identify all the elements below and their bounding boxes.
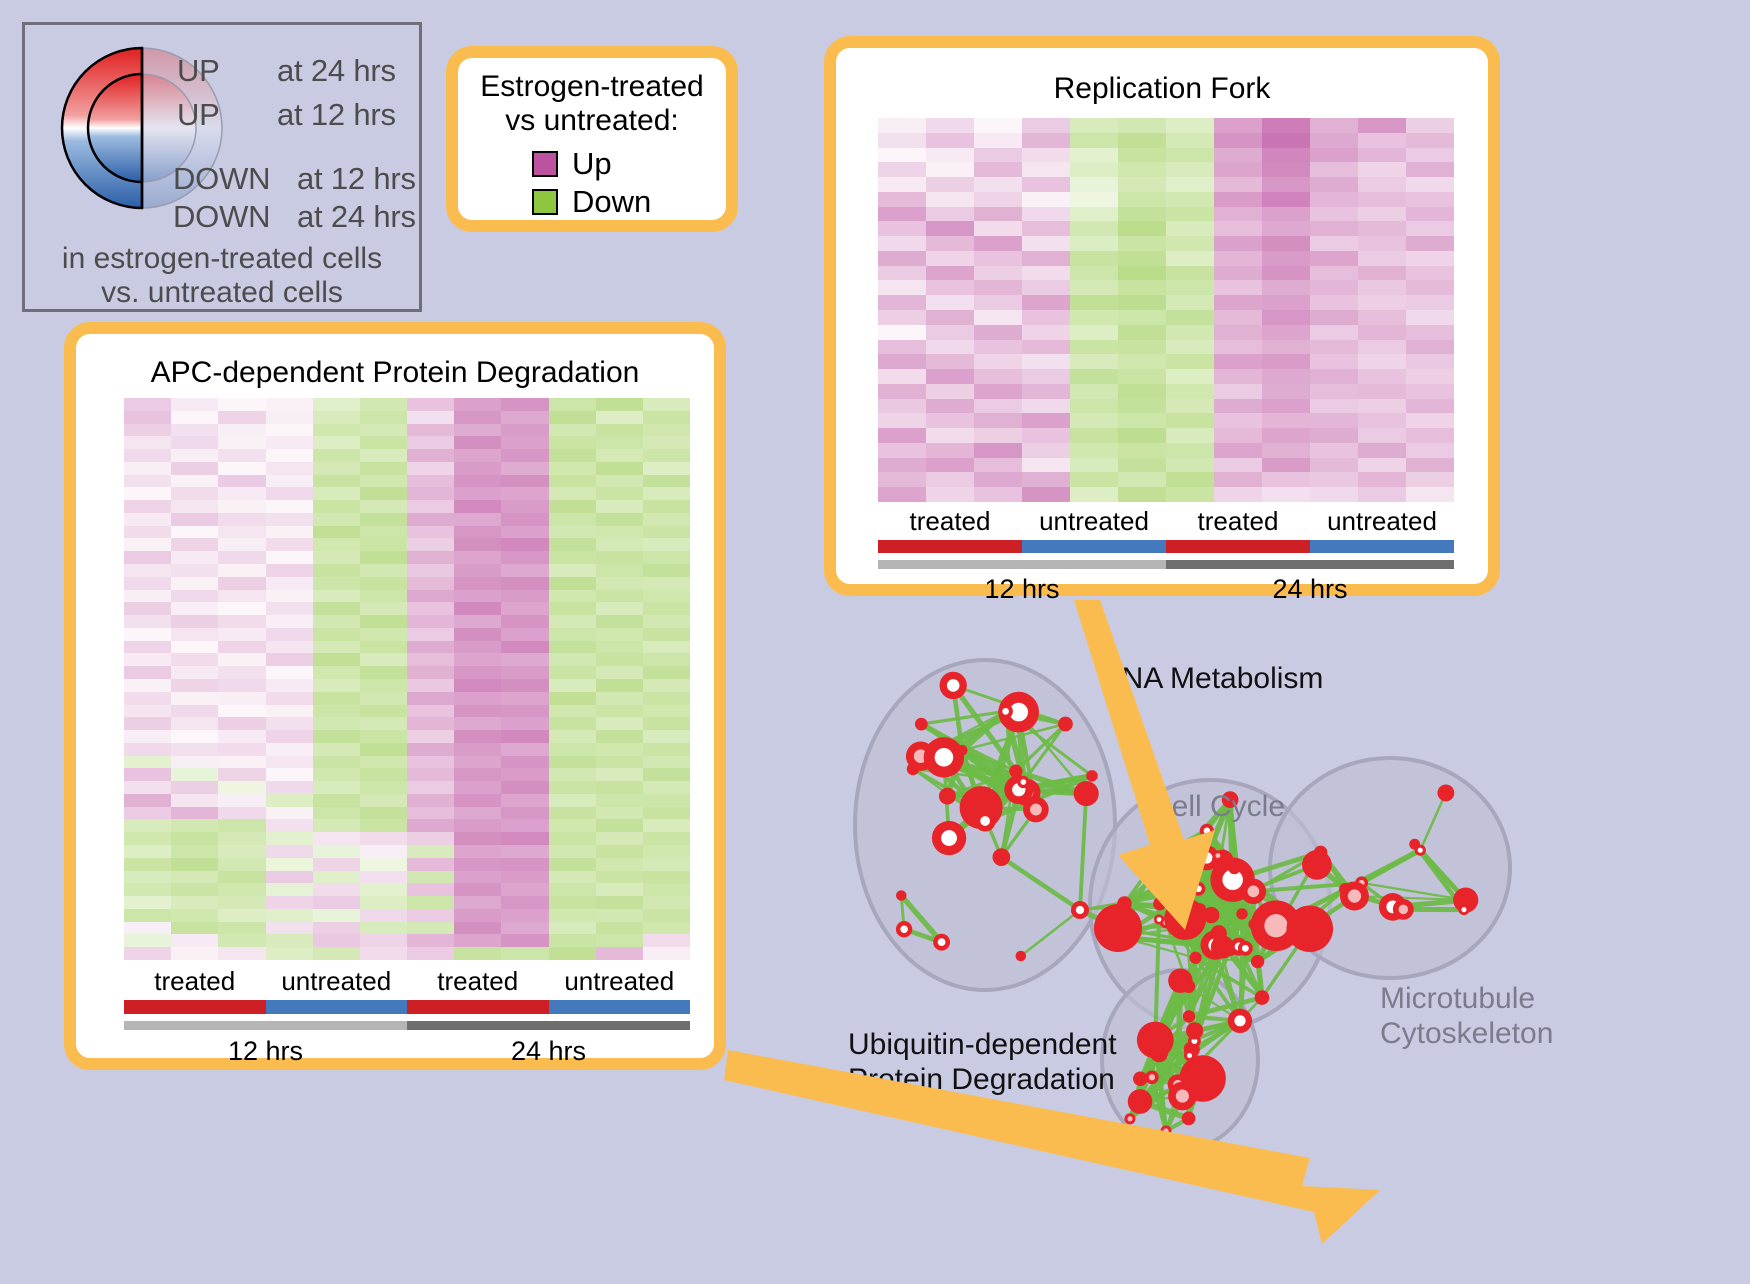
network-node [1009, 765, 1022, 778]
network-node [1164, 898, 1206, 940]
network-node [1023, 797, 1049, 823]
network-node [915, 718, 928, 731]
network-node [933, 934, 950, 951]
time-labels-apc: 12 hrs 24 hrs [124, 1036, 690, 1067]
network-node [1184, 1050, 1195, 1061]
legend-state-0: UP [177, 53, 220, 89]
network-node [1175, 870, 1189, 884]
pathway-network-graph: DNA Metabolism Cell Cycle Microtubule Cy… [780, 610, 1750, 1279]
network-node [1086, 770, 1098, 782]
network-node [1145, 1070, 1159, 1084]
group-label-0: treated [878, 506, 1022, 537]
network-node [1058, 717, 1073, 732]
network-node [1149, 1033, 1164, 1048]
network-node [1157, 865, 1174, 882]
network-node [1191, 882, 1205, 896]
network-node [1437, 784, 1454, 801]
network-node [939, 788, 956, 805]
time-colorbar-apc [124, 1021, 690, 1030]
legend-caption-line1: in estrogen-treated cells [25, 241, 419, 276]
network-node [1186, 1022, 1203, 1039]
group-label-2: treated [1166, 506, 1310, 537]
group-label-0: treated [124, 966, 266, 997]
network-node [1236, 908, 1247, 919]
updown-legend-title: Estrogen-treated vs untreated: [458, 70, 726, 137]
heatmap-replication-fork [878, 118, 1454, 502]
down-label: Down [572, 184, 651, 220]
group-label-1: untreated [266, 966, 408, 997]
group-label-3: untreated [1310, 506, 1454, 537]
network-svg [780, 610, 1750, 1279]
network-node [1153, 897, 1166, 910]
network-node [1168, 1082, 1196, 1110]
updown-legend-panel: Estrogen-treated vs untreated: Up Down [446, 46, 738, 232]
group-labels-apc: treated untreated treated untreated [124, 966, 690, 997]
legend-item-down: Down [532, 184, 651, 220]
group-label-3: untreated [549, 966, 691, 997]
network-node [924, 737, 964, 777]
updown-title-line2: vs untreated: [505, 104, 678, 137]
group-colorbar-apc [124, 1000, 690, 1014]
network-node [1182, 980, 1195, 993]
up-label: Up [572, 146, 612, 182]
network-node [940, 672, 967, 699]
network-node [896, 921, 912, 937]
up-swatch-icon [532, 151, 558, 177]
time-label-0: 12 hrs [878, 574, 1166, 605]
network-node [1160, 1125, 1171, 1136]
network-node [1248, 918, 1260, 930]
network-node [1128, 1089, 1153, 1114]
time-colorbar-replication-fork [878, 560, 1454, 569]
time-labels-replication-fork: 12 hrs 24 hrs [878, 574, 1454, 605]
group-labels-replication-fork: treated untreated treated untreated [878, 506, 1454, 537]
network-node [1241, 879, 1266, 904]
network-node [1151, 1051, 1162, 1062]
legend-time-0: at 24 hrs [277, 53, 396, 89]
network-node [975, 810, 996, 831]
network-node [932, 821, 966, 855]
network-node [1393, 899, 1414, 920]
network-node [1154, 914, 1164, 924]
network-node [1124, 1113, 1135, 1124]
network-node [1074, 781, 1099, 806]
cluster-label-ubiquitin: Ubiquitin-dependent Protein Degradation [848, 1028, 1117, 1097]
network-node [1415, 845, 1426, 856]
network-node [1251, 955, 1264, 968]
legend-state-2: DOWN [173, 161, 270, 197]
network-node [1200, 824, 1214, 838]
cluster-label-cell-cycle: Cell Cycle [1150, 790, 1285, 825]
time-label-0: 12 hrs [124, 1036, 407, 1067]
legend-state-3: DOWN [173, 199, 270, 235]
network-node [1071, 901, 1089, 919]
network-node [1286, 905, 1333, 952]
network-node [907, 763, 920, 776]
cluster-label-dna-metabolism: DNA Metabolism [1100, 662, 1323, 697]
network-node [1228, 862, 1240, 874]
legend-time-2: at 12 hrs [297, 161, 416, 197]
time-label-1: 24 hrs [407, 1036, 690, 1067]
network-node [1016, 951, 1027, 962]
panel-title-apc-degradation: APC-dependent Protein Degradation [76, 356, 714, 390]
legend-caption-line2: vs. untreated cells [25, 275, 419, 310]
network-node [1094, 904, 1142, 952]
legend-time-3: at 24 hrs [297, 199, 416, 235]
network-node [992, 848, 1010, 866]
network-node [1458, 904, 1469, 915]
group-colorbar-replication-fork [878, 540, 1454, 553]
panel-apc-degradation: APC-dependent Protein Degradation treate… [64, 322, 726, 1070]
time-label-1: 24 hrs [1166, 574, 1454, 605]
network-node [1213, 850, 1224, 861]
node-color-legend: UP at 24 hrs UP at 12 hrs DOWN at 12 hrs… [22, 22, 422, 312]
network-node [1183, 1010, 1195, 1022]
group-label-2: treated [407, 966, 549, 997]
legend-state-1: UP [177, 97, 220, 133]
panel-replication-fork: Replication Fork treated untreated treat… [824, 36, 1500, 596]
network-node [1189, 952, 1201, 964]
network-node [1302, 850, 1332, 880]
network-node [1238, 941, 1253, 956]
updown-title-line1: Estrogen-treated [480, 70, 703, 103]
network-node [1255, 990, 1270, 1005]
network-node [1017, 776, 1029, 788]
network-node [1211, 925, 1227, 941]
panel-title-replication-fork: Replication Fork [836, 72, 1488, 106]
legend-item-up: Up [532, 146, 612, 182]
network-node [1182, 1111, 1196, 1125]
network-node [998, 704, 1013, 719]
legend-time-1: at 12 hrs [277, 97, 396, 133]
cluster-label-microtubule: Microtubule Cytoskeleton [1380, 982, 1553, 1051]
heatmap-apc-degradation [124, 398, 690, 960]
network-node [1228, 1009, 1252, 1033]
group-label-1: untreated [1022, 506, 1166, 537]
network-node [896, 890, 907, 901]
network-node [1150, 851, 1165, 866]
network-node [1340, 882, 1369, 911]
down-swatch-icon [532, 189, 558, 215]
